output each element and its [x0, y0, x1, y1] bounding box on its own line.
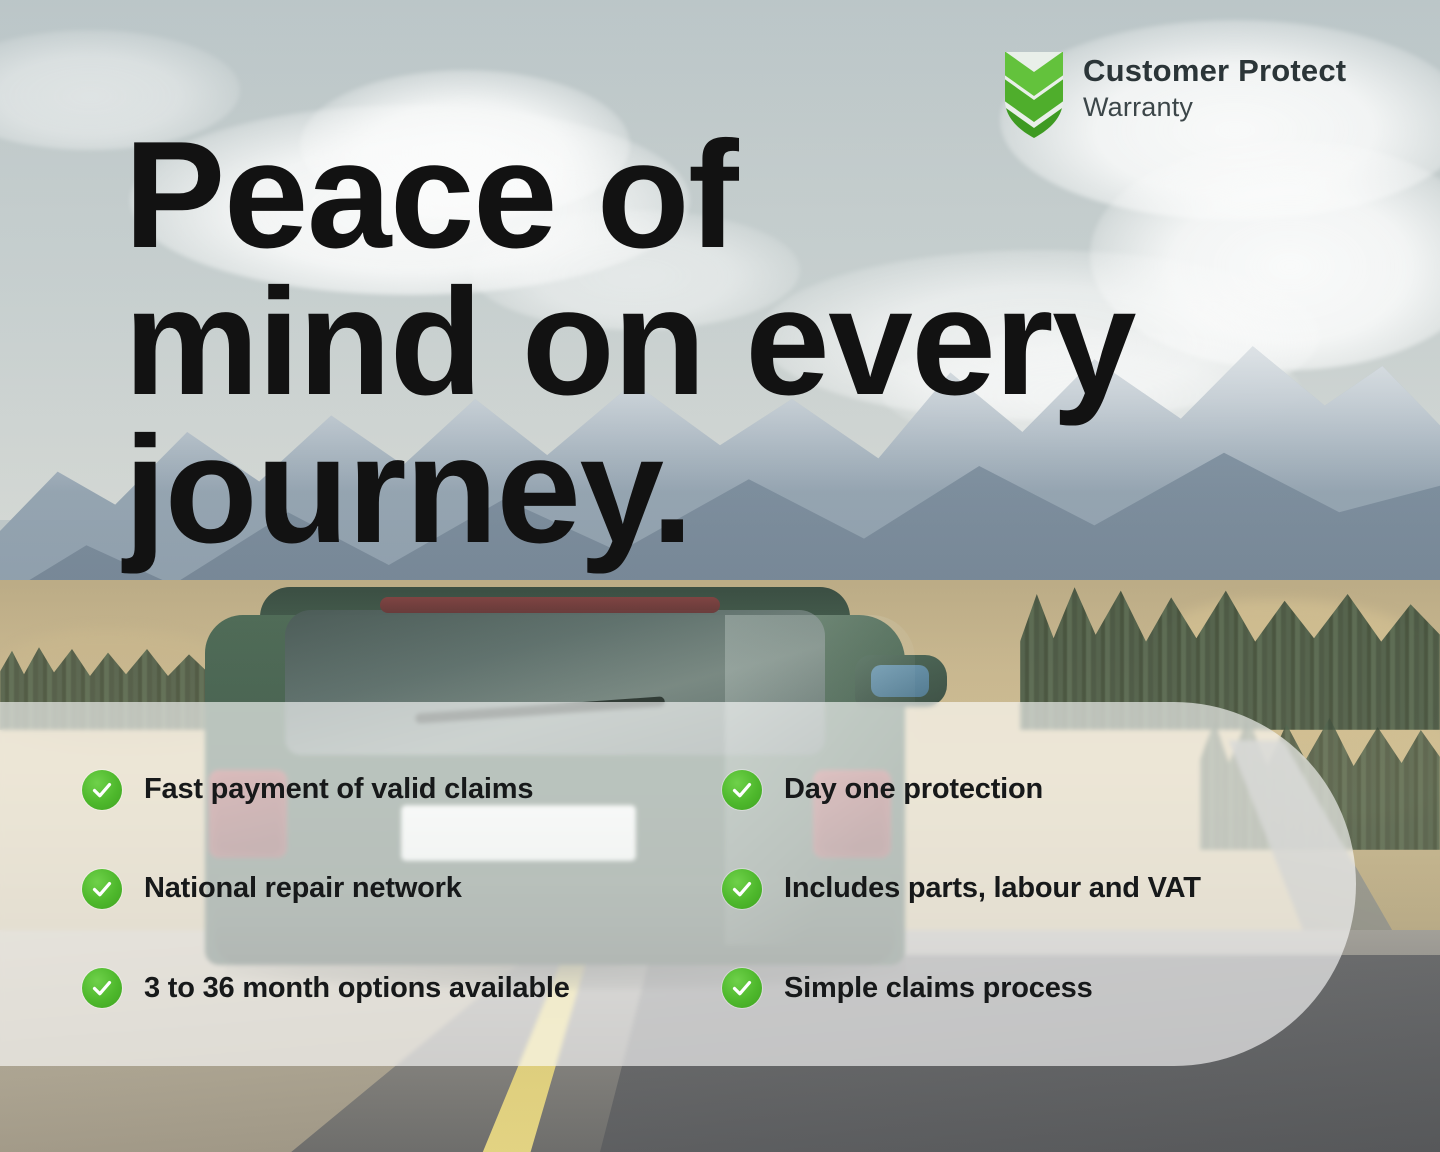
headline-line-1: Peace of: [124, 122, 1135, 269]
marketing-poster: Customer Protect Warranty Peace of mind …: [0, 0, 1440, 1152]
feature-list: Fast payment of valid claims Day one pro…: [0, 702, 1440, 1066]
headline-line-3: journey.: [124, 417, 1135, 564]
check-circle-icon: [82, 968, 122, 1008]
feature-label: National repair network: [144, 872, 462, 905]
brand-logo-text: Customer Protect Warranty: [1083, 48, 1346, 123]
headline-line-2: mind on every: [124, 269, 1135, 416]
feature-item: Day one protection: [722, 770, 1440, 810]
check-circle-icon: [82, 869, 122, 909]
page-title: Peace of mind on every journey.: [124, 122, 1135, 564]
feature-label: Fast payment of valid claims: [144, 773, 533, 806]
brand-name: Customer Protect: [1083, 54, 1346, 89]
check-circle-icon: [722, 770, 762, 810]
brand-subtitle: Warranty: [1083, 91, 1346, 123]
feature-item: Includes parts, labour and VAT: [722, 869, 1440, 909]
car-high-brake-light: [380, 597, 720, 613]
feature-item: Fast payment of valid claims: [82, 770, 722, 810]
check-circle-icon: [722, 869, 762, 909]
check-circle-icon: [722, 968, 762, 1008]
feature-label: Day one protection: [784, 773, 1043, 806]
feature-item: Simple claims process: [722, 968, 1440, 1008]
feature-label: Simple claims process: [784, 972, 1093, 1005]
feature-item: 3 to 36 month options available: [82, 968, 722, 1008]
feature-item: National repair network: [82, 869, 722, 909]
feature-label: Includes parts, labour and VAT: [784, 872, 1201, 905]
check-circle-icon: [82, 770, 122, 810]
feature-label: 3 to 36 month options available: [144, 972, 570, 1005]
